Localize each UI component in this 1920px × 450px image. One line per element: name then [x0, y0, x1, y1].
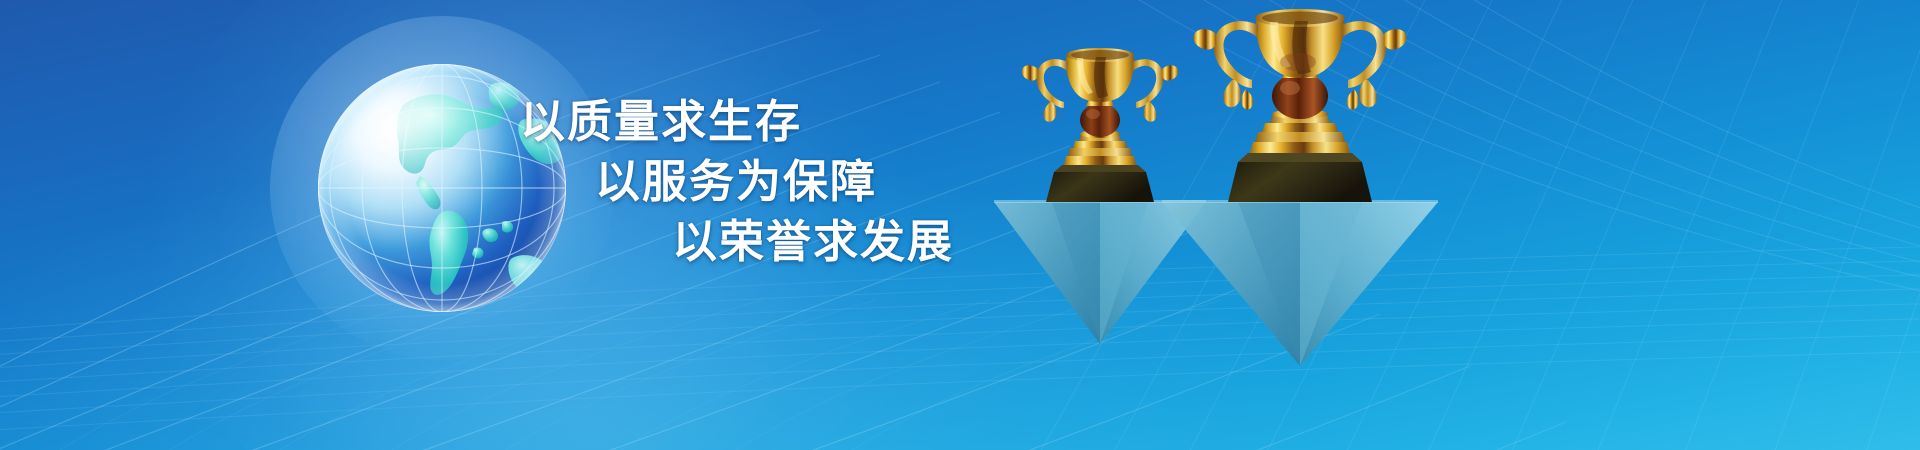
slogan-line-3: 以荣誉求发展: [520, 212, 990, 272]
slogan-line-2: 以服务为保障: [520, 152, 990, 212]
slogan-line-1: 以质量求生存: [520, 92, 990, 152]
trophy-icon-large: [1150, 6, 1450, 366]
trophy-large-group: [1150, 6, 1450, 366]
slogan-block: 以质量求生存 以服务为保障 以荣誉求发展: [520, 92, 990, 272]
promo-banner: 以质量求生存 以服务为保障 以荣誉求发展: [0, 0, 1920, 450]
